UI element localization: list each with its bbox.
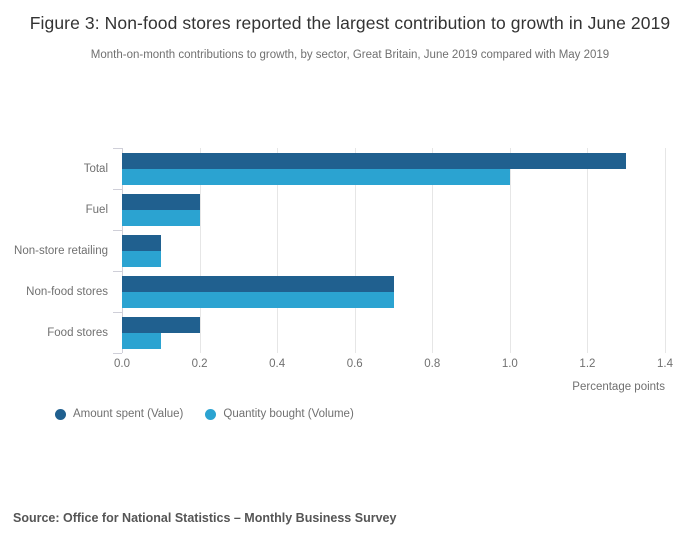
legend-label: Amount spent (Value) <box>73 408 183 420</box>
bar-group <box>122 153 665 185</box>
bar[interactable] <box>122 251 161 267</box>
y-axis-label: Non-food stores <box>0 285 108 299</box>
x-axis-tick-label: 1.0 <box>502 358 518 370</box>
x-axis-tick-label: 0.2 <box>192 358 208 370</box>
legend-marker-icon <box>205 409 216 420</box>
bar[interactable] <box>122 235 161 251</box>
chart-title: Figure 3: Non-food stores reported the l… <box>26 12 674 35</box>
y-axis-category-labels: TotalFuelNon-store retailingNon-food sto… <box>0 148 108 353</box>
bar[interactable] <box>122 292 394 308</box>
x-axis-title: Percentage points <box>365 381 665 393</box>
x-axis-tick-label: 0.0 <box>114 358 130 370</box>
bar[interactable] <box>122 317 200 333</box>
legend-item[interactable]: Quantity bought (Volume) <box>205 408 353 420</box>
source-note: Source: Office for National Statistics –… <box>13 511 396 525</box>
bar-series-container <box>122 148 665 353</box>
chart-subtitle: Month-on-month contributions to growth, … <box>26 47 674 63</box>
y-axis-tick <box>113 271 122 272</box>
x-axis-tick-label: 0.4 <box>269 358 285 370</box>
x-axis-tick-label: 1.4 <box>657 358 673 370</box>
bar[interactable] <box>122 194 200 210</box>
x-axis-tick-label: 0.8 <box>424 358 440 370</box>
y-axis-tick <box>113 189 122 190</box>
y-axis-tick <box>113 353 122 354</box>
y-axis-label: Non-store retailing <box>0 244 108 258</box>
y-axis-label: Food stores <box>0 326 108 340</box>
legend-marker-icon <box>55 409 66 420</box>
bar-group <box>122 235 665 267</box>
legend-label: Quantity bought (Volume) <box>223 408 353 420</box>
legend-item[interactable]: Amount spent (Value) <box>55 408 183 420</box>
x-axis-tick-label: 1.2 <box>579 358 595 370</box>
y-axis-label: Fuel <box>0 203 108 217</box>
bar[interactable] <box>122 333 161 349</box>
chart-legend: Amount spent (Value)Quantity bought (Vol… <box>55 408 354 420</box>
chart-header: Figure 3: Non-food stores reported the l… <box>0 0 700 63</box>
y-axis-tick <box>113 230 122 231</box>
y-axis-label: Total <box>0 162 108 176</box>
bar[interactable] <box>122 276 394 292</box>
bar[interactable] <box>122 169 510 185</box>
bar[interactable] <box>122 210 200 226</box>
bar-group <box>122 317 665 349</box>
bar-group <box>122 276 665 308</box>
bar-group <box>122 194 665 226</box>
bar[interactable] <box>122 153 626 169</box>
x-axis-tick-labels: 0.00.20.40.60.81.01.21.4 <box>122 358 665 374</box>
gridline <box>665 148 666 353</box>
y-axis-tick <box>113 312 122 313</box>
y-axis-tick <box>113 148 122 149</box>
x-axis-tick-label: 0.6 <box>347 358 363 370</box>
